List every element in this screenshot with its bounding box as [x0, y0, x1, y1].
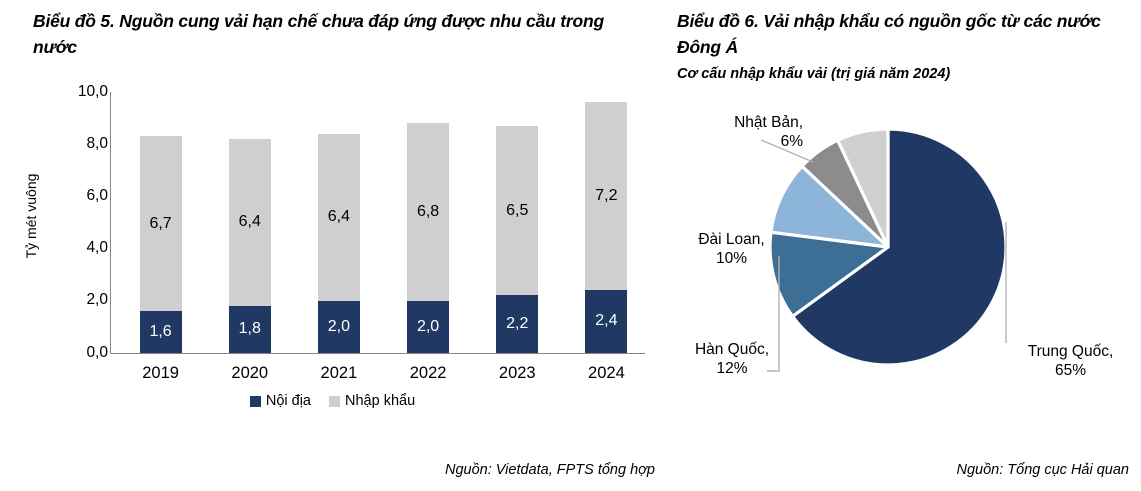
bar-value-label: 6,8 — [417, 203, 439, 221]
bar-column[interactable]: 6,71,6 — [140, 136, 182, 352]
x-axis-tick-label: 2020 — [205, 364, 295, 383]
bar-segment-noi-dia[interactable]: 1,6 — [140, 311, 182, 353]
bar-chart-legend: Nội địaNhập khẩu — [0, 393, 665, 409]
bar-plot-area: 6,71,620196,41,820206,42,020216,82,02022… — [110, 92, 645, 354]
y-axis-tick-label: 4,0 — [56, 241, 108, 255]
bar-segment-nhap-khau[interactable]: 6,4 — [229, 139, 271, 306]
bar-chart: Tỷ mét vuông 10,08,06,04,02,00,0 6,71,62… — [0, 88, 665, 388]
x-axis-tick-label: 2021 — [294, 364, 384, 383]
x-axis-tick-label: 2022 — [383, 364, 473, 383]
bar-column[interactable]: 6,42,0 — [318, 134, 360, 353]
y-axis-tick-group: 10,08,06,04,02,00,0 — [46, 88, 108, 358]
bar-value-label: 6,4 — [239, 213, 261, 231]
y-axis-tick-label: 10,0 — [56, 85, 108, 99]
bar-value-label: 6,4 — [328, 208, 350, 226]
bar-segment-noi-dia[interactable]: 1,8 — [229, 306, 271, 353]
y-axis-tick-label: 0,0 — [56, 346, 108, 360]
legend-swatch-icon — [250, 396, 261, 407]
bar-value-label: 6,5 — [506, 202, 528, 220]
bar-segment-nhap-khau[interactable]: 6,4 — [318, 134, 360, 301]
chart-panel-left: Biểu đồ 5. Nguồn cung vải hạn chế chưa đ… — [0, 0, 665, 486]
pie-label-trung-quoc: Trung Quốc, 65% — [1008, 342, 1133, 380]
bar-segment-nhap-khau[interactable]: 6,8 — [407, 123, 449, 300]
bar-segment-noi-dia[interactable]: 2,4 — [585, 290, 627, 353]
legend-item[interactable]: Nội địa — [250, 393, 311, 409]
bar-value-label: 2,2 — [506, 315, 528, 333]
pie-chart: Nhật Bản, 6% Đài Loan, 10% Hàn Quốc, 12%… — [665, 0, 1141, 486]
bar-column[interactable]: 6,41,8 — [229, 139, 271, 353]
legend-swatch-icon — [329, 396, 340, 407]
bar-value-label: 1,6 — [149, 323, 171, 341]
pie-label-han-quoc: Hàn Quốc, 12% — [667, 340, 797, 378]
bar-value-label: 2,0 — [417, 318, 439, 336]
bar-value-label: 1,8 — [239, 320, 261, 338]
y-axis-line — [110, 92, 111, 354]
bar-column[interactable]: 7,22,4 — [585, 102, 627, 352]
bar-value-label: 7,2 — [595, 187, 617, 205]
bar-segment-nhap-khau[interactable]: 6,5 — [496, 126, 538, 295]
bar-segment-nhap-khau[interactable]: 7,2 — [585, 102, 627, 290]
page-title-chart5: Biểu đồ 5. Nguồn cung vải hạn chế chưa đ… — [33, 8, 648, 60]
bar-column[interactable]: 6,52,2 — [496, 126, 538, 353]
bar-segment-noi-dia[interactable]: 2,0 — [318, 301, 360, 353]
bar-segment-nhap-khau[interactable]: 6,7 — [140, 136, 182, 311]
legend-item[interactable]: Nhập khẩu — [329, 393, 415, 409]
y-axis-tick-label: 6,0 — [56, 189, 108, 203]
bar-value-label: 2,4 — [595, 312, 617, 330]
chart-panel-right: Biểu đồ 6. Vải nhập khẩu có nguồn gốc từ… — [665, 0, 1141, 486]
bar-value-label: 6,7 — [149, 215, 171, 233]
legend-label: Nội địa — [266, 393, 311, 409]
pie-label-nhat-ban: Nhật Bản, 6% — [683, 113, 803, 151]
bar-segment-noi-dia[interactable]: 2,2 — [496, 295, 538, 352]
x-axis-tick-label: 2024 — [561, 364, 651, 383]
pie-label-dai-loan: Đài Loan, 10% — [669, 230, 794, 268]
bar-column[interactable]: 6,82,0 — [407, 123, 449, 352]
x-axis-tick-label: 2019 — [116, 364, 206, 383]
y-axis-tick-label: 8,0 — [56, 137, 108, 151]
source-note-left: Nguồn: Vietdata, FPTS tổng hợp — [255, 462, 655, 478]
x-axis-tick-label: 2023 — [472, 364, 562, 383]
source-note-right: Nguồn: Tổng cục Hải quan — [799, 462, 1129, 478]
y-axis-tick-label: 2,0 — [56, 293, 108, 307]
bar-value-label: 2,0 — [328, 318, 350, 336]
x-axis-line — [110, 353, 645, 354]
legend-label: Nhập khẩu — [345, 393, 415, 409]
bar-segment-noi-dia[interactable]: 2,0 — [407, 301, 449, 353]
y-axis-title: Tỷ mét vuông — [23, 141, 39, 291]
